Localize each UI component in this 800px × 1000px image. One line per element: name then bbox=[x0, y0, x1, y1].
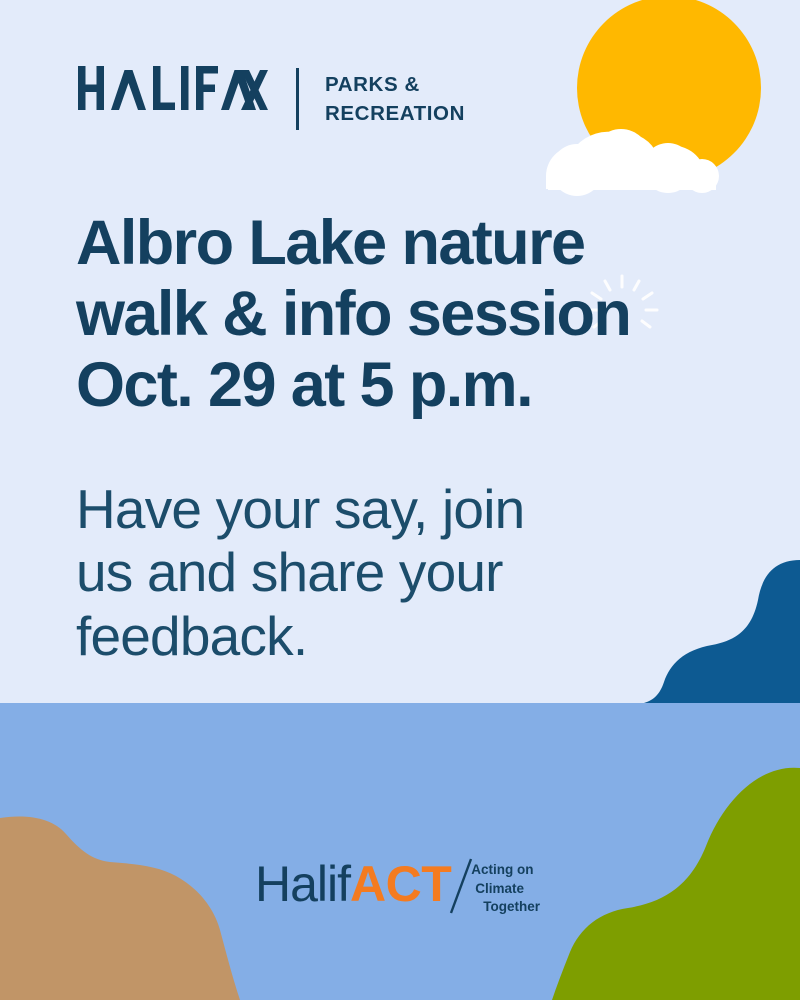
halifact-word-halif: Halif bbox=[255, 856, 350, 912]
halifact-word-act: ACT bbox=[350, 856, 451, 912]
halifact-logo: HalifACT Acting on Climate Together bbox=[255, 857, 540, 917]
poster-canvas: PARKS & RECREATION Albro Lake nature wal… bbox=[0, 0, 800, 1000]
subheadline: Have your say, join us and share your fe… bbox=[76, 478, 716, 668]
subheadline-line-1: Have your say, join bbox=[76, 478, 716, 541]
halifact-wordmark: HalifACT bbox=[255, 857, 451, 909]
department-line-2: RECREATION bbox=[325, 99, 465, 128]
headline-line-2: walk & info session bbox=[76, 279, 746, 350]
logo-divider bbox=[296, 68, 299, 130]
halifact-tagline: Acting on Climate Together bbox=[471, 857, 540, 917]
subheadline-line-3: feedback. bbox=[76, 605, 716, 668]
headline-line-3: Oct. 29 at 5 p.m. bbox=[76, 350, 746, 421]
water-background bbox=[0, 703, 800, 1000]
halifact-tagline-line-1: Acting on bbox=[471, 861, 540, 880]
headline: Albro Lake nature walk & info session Oc… bbox=[76, 208, 746, 422]
halifact-tagline-line-2: Climate bbox=[471, 880, 540, 899]
halifact-slash-icon bbox=[449, 857, 475, 915]
department-label: PARKS & RECREATION bbox=[325, 66, 465, 130]
halifax-header-logo: PARKS & RECREATION bbox=[78, 66, 465, 130]
headline-line-1: Albro Lake nature bbox=[76, 208, 746, 279]
subheadline-line-2: us and share your bbox=[76, 541, 716, 604]
halifact-tagline-line-3: Together bbox=[471, 898, 540, 917]
halifax-wordmark bbox=[78, 66, 268, 112]
department-line-1: PARKS & bbox=[325, 70, 465, 99]
halifax-logotype-icon bbox=[78, 66, 268, 112]
